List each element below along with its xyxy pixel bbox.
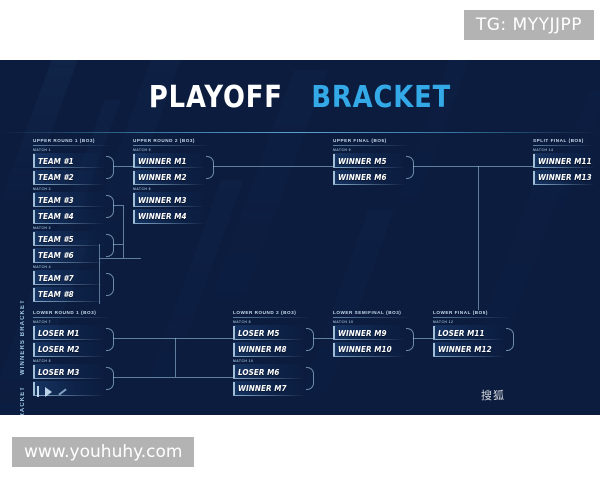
match-lower-r1-m7[interactable]: MATCH 7 LOSER M1 LOSER M2 [33, 320, 105, 358]
slot-text: TEAM #5 [38, 234, 74, 244]
bracket-brace [106, 367, 114, 390]
slot-text: WINNER M5 [338, 156, 387, 166]
bracket-slot[interactable]: WINNER M1 [133, 153, 205, 168]
round-underline [333, 145, 411, 146]
round-underline [133, 145, 211, 146]
losers-bracket-label: LOSERS BRACKET [20, 391, 26, 415]
bracket-connector [113, 205, 123, 206]
round-header-lower-round-1: LOWER ROUND 1 (BO3) [33, 310, 111, 318]
round-underline [333, 317, 411, 318]
slot-text: TEAM #7 [38, 273, 74, 283]
round-underline [233, 317, 311, 318]
slot-text: LOSER M11 [438, 328, 485, 338]
bracket-slot[interactable]: LOSER M6 [233, 364, 305, 379]
bracket-slot[interactable]: WINNER M9 [333, 325, 405, 340]
slot-text: TEAM #1 [38, 156, 74, 166]
bracket-brace [506, 328, 514, 351]
bracket-connector [113, 244, 123, 245]
bracket-brace [106, 234, 114, 257]
slot-text: WINNER M4 [138, 211, 187, 221]
match-label: MATCH 1 [33, 148, 105, 152]
bracket-slot[interactable]: LOSER M2 [33, 342, 105, 357]
match-label: MATCH 9 [333, 148, 405, 152]
bracket-slot[interactable]: WINNER M8 [233, 342, 305, 357]
match-label: MATCH 12 [433, 320, 505, 324]
match-label: MATCH 7 [33, 320, 105, 324]
slot-text: LOSER M2 [38, 344, 80, 354]
bracket-panel: PLAYOFFBRACKET WINNERS BRACKET LOSERS BR… [0, 60, 600, 415]
sohu-watermark: 搜狐 [481, 387, 505, 403]
slot-text: TEAM #4 [38, 211, 74, 221]
match-lower-final[interactable]: MATCH 12 LOSER M11 WINNER M12 [433, 320, 505, 358]
round-underline [33, 317, 111, 318]
bracket-slot[interactable]: TEAM #3 [33, 192, 105, 207]
slot-text: WINNER M9 [338, 328, 387, 338]
bracket-slot[interactable]: LOSER M1 [33, 325, 105, 340]
title-bracket: BRACKET [311, 80, 451, 115]
round-title: SPLIT FINAL (BO5) [533, 138, 593, 143]
bracket-slot[interactable]: WINNER M11 [533, 153, 595, 168]
match-label: MATCH 2 [33, 187, 105, 191]
round-title: LOWER ROUND 2 (BO3) [233, 310, 311, 315]
slot-text: WINNER M7 [238, 383, 287, 393]
round-underline [533, 145, 593, 146]
site-watermark-badge: www.youhuhy.com [12, 437, 194, 467]
match-label: MATCH 3 [33, 226, 105, 230]
bracket-slot[interactable]: TEAM #5 [33, 231, 105, 246]
slot-text: WINNER M1 [138, 156, 187, 166]
slot-text: WINNER M2 [138, 172, 187, 182]
bracket-connector [113, 377, 233, 378]
round-header-lower-semifinal: LOWER SEMIFINAL (BO3) [333, 310, 411, 318]
round-header-lower-final: LOWER FINAL (BO5) [433, 310, 511, 318]
round-underline [433, 317, 511, 318]
round-title: LOWER ROUND 1 (BO3) [33, 310, 111, 315]
round-header-split-final: SPLIT FINAL (BO5) [533, 138, 593, 146]
match-lower-semifinal[interactable]: MATCH 10 WINNER M9 WINNER M10 [333, 320, 405, 358]
match-label: MATCH 4 [33, 265, 105, 269]
bracket-slot[interactable]: WINNER M13 [533, 170, 595, 185]
round-header-upper-round-2: UPPER ROUND 2 (BO3) [133, 138, 211, 146]
round-header-upper-round-1: UPPER ROUND 1 (BO3) [33, 138, 111, 146]
play-glyph-overlay [37, 386, 67, 397]
slot-text: TEAM #6 [38, 250, 74, 260]
match-label: MATCH 6 [133, 187, 205, 191]
match-split-final[interactable]: MATCH 14 WINNER M11 WINNER M13 [533, 148, 595, 186]
round-header-upper-final: UPPER FINAL (BO5) [333, 138, 411, 146]
bracket-slot[interactable]: WINNER M7 [233, 381, 305, 396]
bracket-brace [106, 273, 114, 296]
match-lower-r2-b[interactable]: MATCH 10 LOSER M6 WINNER M7 [233, 359, 305, 397]
bracket-slot[interactable]: TEAM #4 [33, 209, 105, 224]
match-upper-r2-m5[interactable]: MATCH 5 WINNER M1 WINNER M2 [133, 148, 205, 186]
bracket-slot[interactable]: WINNER M2 [133, 170, 205, 185]
slot-text: TEAM #8 [38, 289, 74, 299]
slot-text: WINNER M13 [538, 172, 592, 182]
round-title: LOWER SEMIFINAL (BO3) [333, 310, 411, 315]
bracket-brace [406, 156, 414, 179]
slot-text: WINNER M8 [238, 344, 287, 354]
bracket-slot[interactable]: WINNER M12 [433, 342, 505, 357]
slot-text: WINNER M10 [338, 344, 392, 354]
bracket-slot[interactable]: LOSER M5 [233, 325, 305, 340]
slot-text: TEAM #2 [38, 172, 74, 182]
bracket-connector [478, 166, 479, 310]
bracket-brace [306, 328, 314, 351]
match-label: MATCH 14 [533, 148, 595, 152]
bracket-slot[interactable]: TEAM #7 [33, 270, 105, 285]
bracket-slot[interactable]: WINNER M6 [333, 170, 405, 185]
slot-text: LOSER M6 [238, 367, 280, 377]
bracket-slot[interactable]: TEAM #8 [33, 287, 105, 302]
slot-text: LOSER M1 [38, 328, 80, 338]
bracket-connector [413, 338, 433, 339]
header-divider [0, 132, 600, 133]
bracket-slot[interactable]: TEAM #2 [33, 170, 105, 185]
bracket-slot[interactable]: LOSER M3 [33, 364, 105, 379]
bracket-connector [123, 205, 124, 258]
telegram-watermark-badge: TG: MYYJJPP [464, 10, 594, 40]
match-upper-r1-m1[interactable]: MATCH 1 TEAM #1 TEAM #2 [33, 148, 105, 186]
bracket-brace [206, 156, 214, 179]
bracket-slot[interactable]: WINNER M10 [333, 342, 405, 357]
round-title: UPPER ROUND 2 (BO3) [133, 138, 211, 143]
bar-glyph-icon [37, 386, 39, 397]
bracket-connector [113, 338, 233, 339]
match-upper-r1-m3[interactable]: MATCH 3 TEAM #5 TEAM #6 [33, 226, 105, 264]
match-label: MATCH 10 [333, 320, 405, 324]
bracket-brace [306, 367, 314, 390]
bracket-connector [413, 166, 533, 167]
slot-text: WINNER M6 [338, 172, 387, 182]
match-label: MATCH 8 [233, 320, 305, 324]
round-title: LOWER FINAL (BO5) [433, 310, 511, 315]
slot-text: WINNER M3 [138, 195, 187, 205]
round-header-lower-round-2: LOWER ROUND 2 (BO3) [233, 310, 311, 318]
page-root: PLAYOFFBRACKET WINNERS BRACKET LOSERS BR… [0, 0, 600, 480]
bracket-slot[interactable]: TEAM #6 [33, 248, 105, 263]
slot-text: LOSER M5 [238, 328, 280, 338]
bracket-connector [313, 338, 333, 339]
winners-bracket-label: WINNERS BRACKET [20, 303, 26, 375]
title-playoff: PLAYOFF [149, 80, 283, 115]
match-upper-r2-m6[interactable]: MATCH 6 WINNER M3 WINNER M4 [133, 187, 205, 225]
round-underline [33, 145, 111, 146]
bracket-slot[interactable]: TEAM #1 [33, 153, 105, 168]
page-title: PLAYOFFBRACKET [0, 80, 600, 115]
match-label: MATCH 10 [233, 359, 305, 363]
bracket-connector [99, 258, 141, 259]
slot-text: TEAM #3 [38, 195, 74, 205]
bracket-slot[interactable]: WINNER M3 [133, 192, 205, 207]
bracket-slot[interactable]: WINNER M5 [333, 153, 405, 168]
slot-text: LOSER M3 [38, 367, 80, 377]
bracket-brace [406, 328, 414, 351]
round-title: UPPER FINAL (BO5) [333, 138, 411, 143]
bracket-slot[interactable]: LOSER M11 [433, 325, 505, 340]
slot-text: WINNER M11 [538, 156, 592, 166]
match-lower-r2-a[interactable]: MATCH 8 LOSER M5 WINNER M8 [233, 320, 305, 358]
match-upper-final-m9[interactable]: MATCH 9 WINNER M5 WINNER M6 [333, 148, 405, 186]
play-triangle-icon [45, 387, 52, 397]
slash-glyph-icon [58, 388, 66, 395]
match-upper-r1-m4[interactable]: MATCH 4 TEAM #7 TEAM #8 [33, 265, 105, 303]
bracket-connector [213, 166, 333, 167]
slot-text: WINNER M12 [438, 344, 492, 354]
round-title: UPPER ROUND 1 (BO3) [33, 138, 111, 143]
bracket-slot[interactable]: WINNER M4 [133, 209, 205, 224]
match-label: MATCH 8 [33, 359, 105, 363]
match-upper-r1-m2[interactable]: MATCH 2 TEAM #3 TEAM #4 [33, 187, 105, 225]
bracket-brace [106, 195, 114, 218]
match-label: MATCH 5 [133, 148, 205, 152]
bracket-connector [175, 338, 176, 377]
bracket-brace [106, 156, 114, 179]
bracket-brace [106, 328, 114, 351]
